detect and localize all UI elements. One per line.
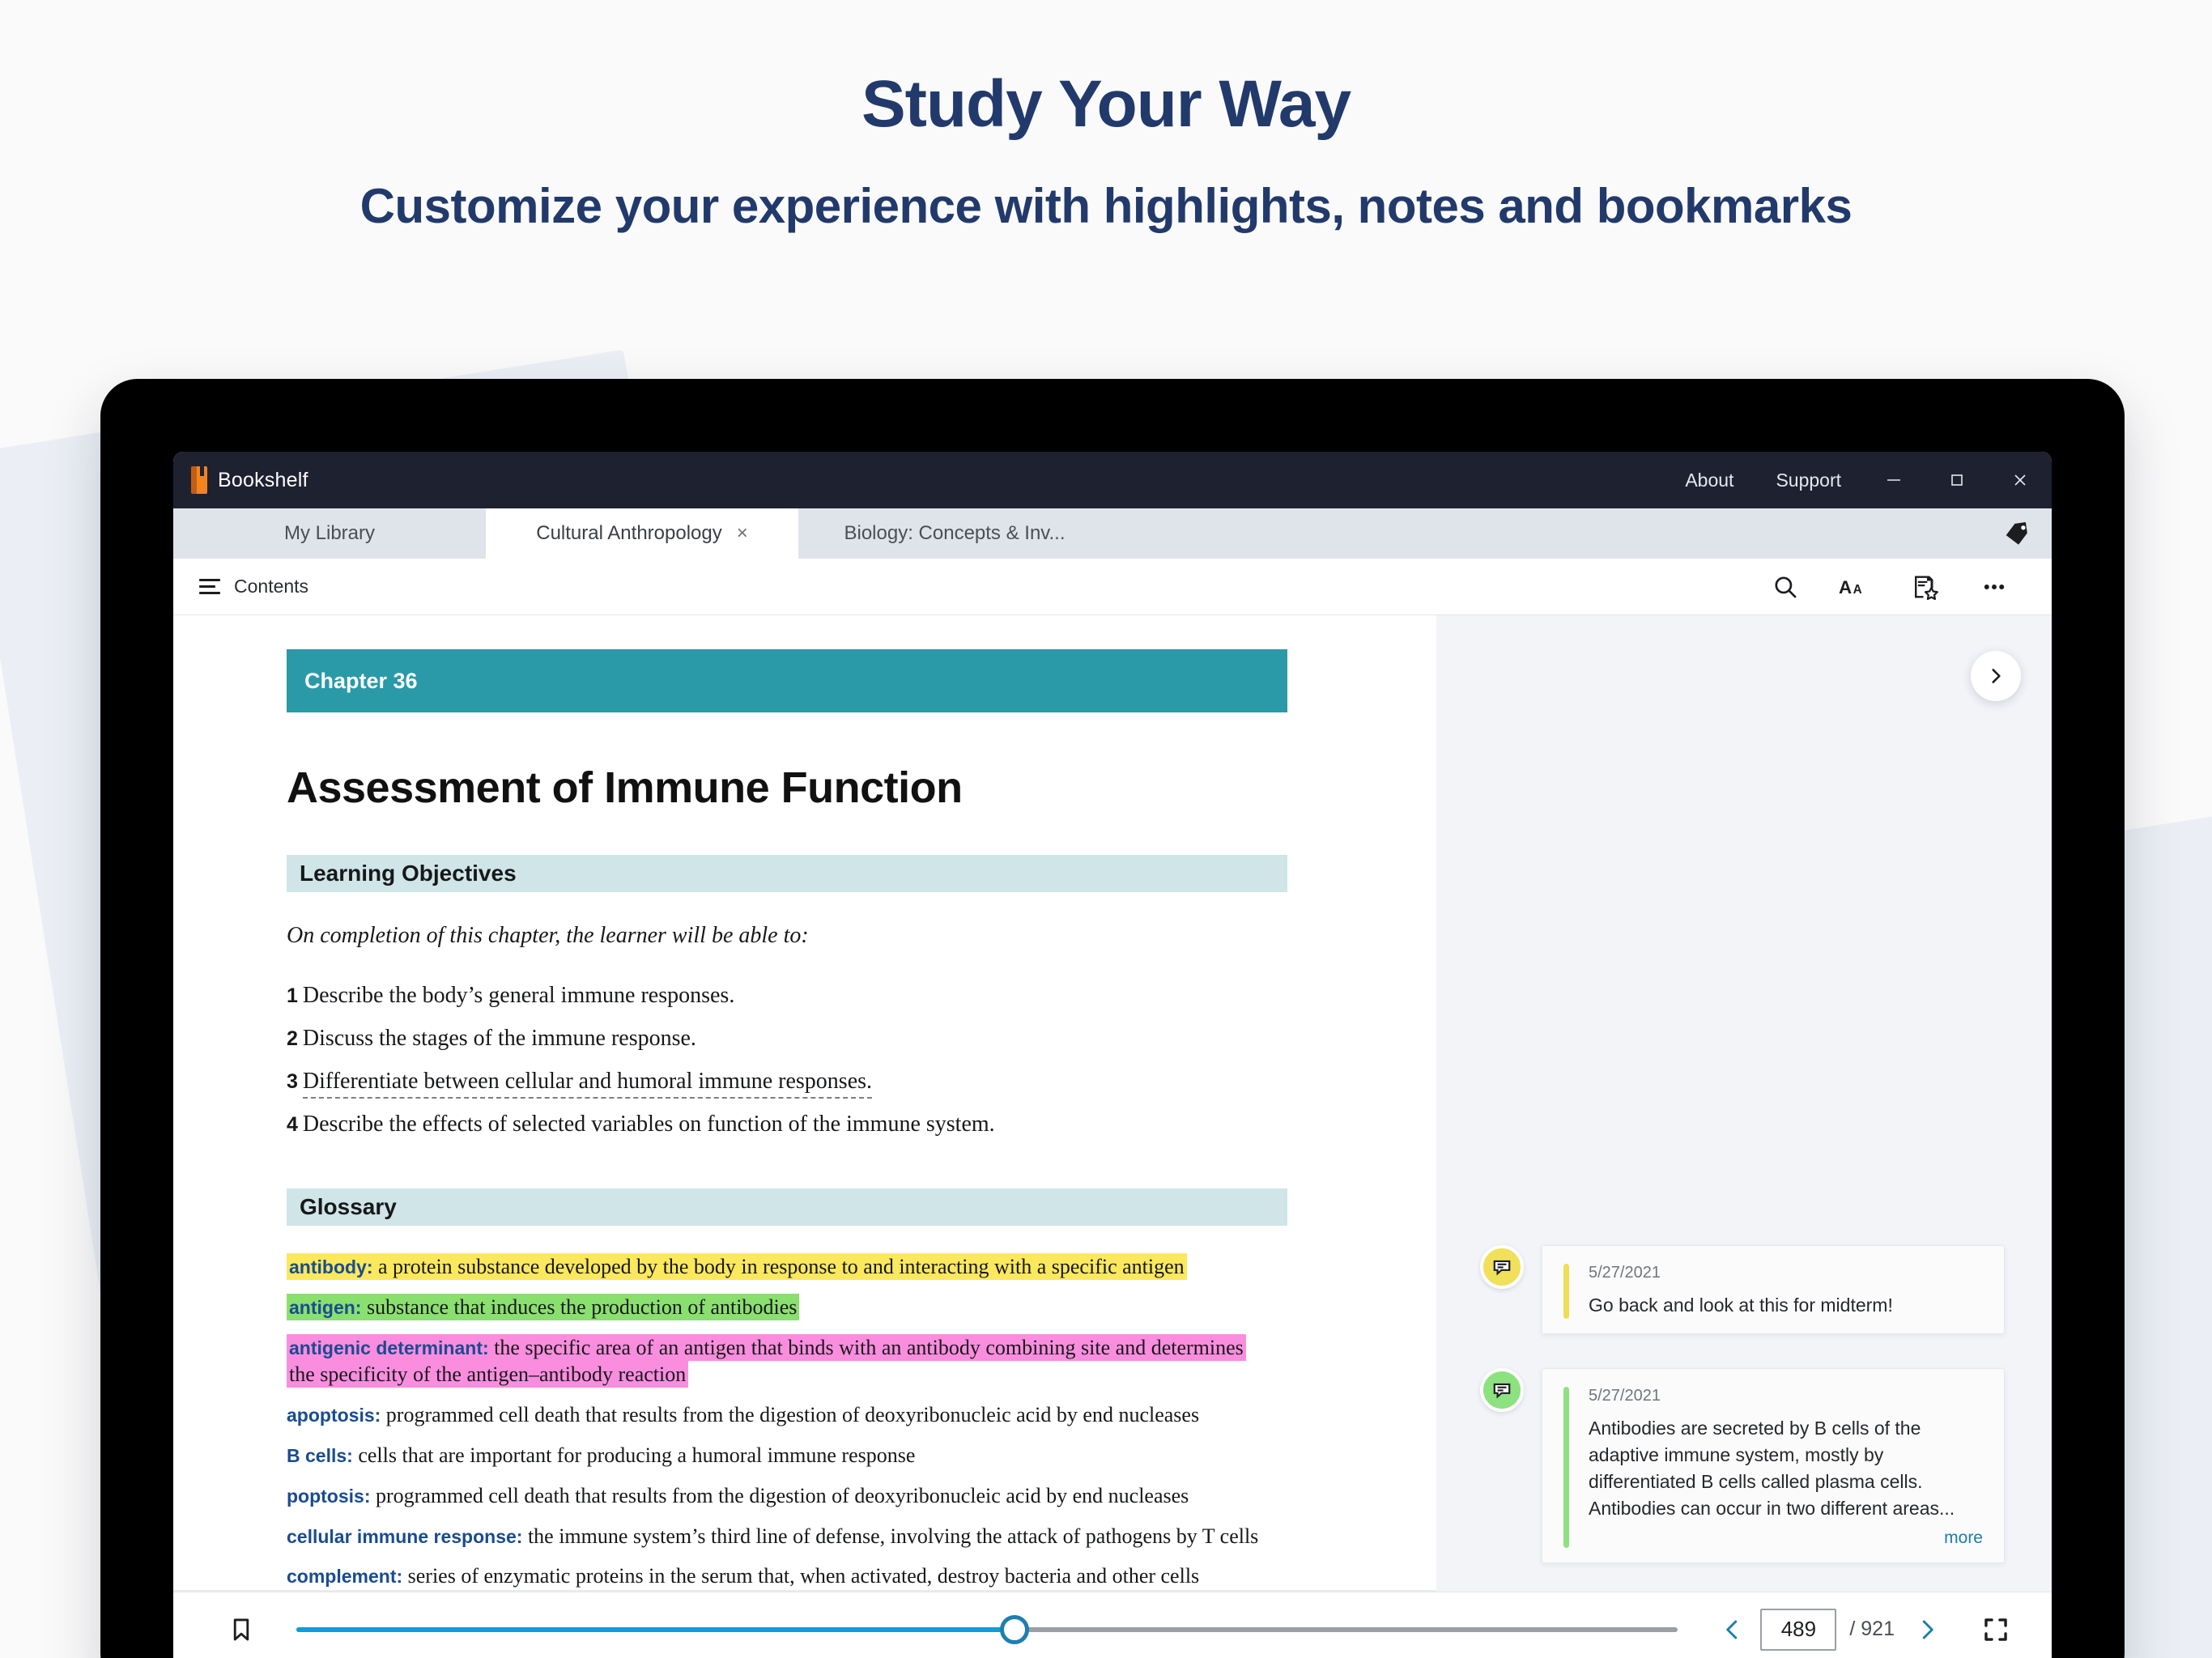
page-progress-slider[interactable] (296, 1613, 1678, 1646)
glossary-definition-line2: the specificity of the antigen–antibody … (287, 1361, 688, 1388)
glossary-definition: the specific area of an antigen that bin… (494, 1336, 1244, 1359)
glossary-term: antibody: (289, 1256, 373, 1278)
slider-thumb[interactable] (1000, 1615, 1029, 1644)
contents-label: Contents (234, 576, 308, 597)
support-link[interactable]: Support (1755, 452, 1862, 508)
glossary-entry: poptosis: programmed cell death that res… (287, 1482, 1291, 1510)
note-accent-bar (1563, 1387, 1569, 1548)
glossary-term: B cells: (287, 1445, 353, 1466)
more-options-icon[interactable] (1959, 559, 2029, 615)
reader-viewport: Chapter 36 Assessment of Immune Function… (173, 615, 2052, 1592)
fullscreen-icon[interactable] (1967, 1607, 2024, 1652)
hamburger-icon (199, 579, 220, 594)
minimize-button[interactable] (1862, 452, 1925, 508)
page-subtitle: Customize your experience with highlight… (0, 180, 2212, 233)
page-title: Study Your Way (0, 71, 2212, 138)
chapter-band: Chapter 36 (287, 649, 1287, 712)
tab-label: Cultural Anthropology (536, 522, 721, 545)
note-date: 5/27/2021 (1589, 1387, 1983, 1405)
tab-biology-concepts[interactable]: Biology: Concepts & Inv... (798, 508, 1111, 559)
previous-page-button[interactable] (1710, 1607, 1755, 1652)
page-number-input[interactable]: 489 (1760, 1609, 1836, 1651)
bookmark-icon[interactable] (215, 1616, 267, 1643)
expand-panel-button[interactable] (1971, 651, 2021, 701)
glossary-definition: the immune system’s third line of defens… (528, 1524, 1258, 1548)
book-tabbar: My Library Cultural Anthropology × Biolo… (173, 508, 2052, 559)
close-icon[interactable]: × (737, 524, 748, 543)
objective-text: Discuss the stages of the immune respons… (303, 1026, 696, 1051)
objective-item-highlighted[interactable]: 3Differentiate between cellular and humo… (287, 1067, 1355, 1095)
bookshelf-app-window: Bookshelf About Support My Library (173, 452, 2052, 1658)
glossary-definition: substance that induces the production of… (367, 1295, 797, 1319)
glossary-entry: complement: series of enzymatic proteins… (287, 1562, 1291, 1590)
chapter-label: Chapter 36 (304, 669, 418, 694)
svg-text:A: A (1839, 577, 1852, 597)
objective-number: 3 (287, 1070, 298, 1093)
glossary-term: apoptosis: (287, 1405, 381, 1426)
note-item[interactable]: 5/27/2021 Antibodies are secreted by B c… (1480, 1368, 2005, 1563)
contents-button[interactable]: Contents (199, 576, 308, 597)
objective-number: 4 (287, 1113, 298, 1136)
document-title: Assessment of Immune Function (287, 763, 1355, 813)
svg-text:A: A (1853, 583, 1862, 597)
bookshelf-logo-icon (191, 466, 207, 494)
objective-item: 1Describe the body’s general immune resp… (287, 981, 1355, 1010)
section-heading-label: Glossary (300, 1194, 397, 1220)
window-titlebar: Bookshelf About Support (173, 452, 2052, 508)
section-heading-label: Learning Objectives (300, 861, 517, 886)
glossary-entry-highlighted[interactable]: antigen: substance that induces the prod… (287, 1294, 1291, 1321)
learning-objectives-intro: On completion of this chapter, the learn… (287, 923, 1355, 949)
note-date: 5/27/2021 (1589, 1264, 1983, 1282)
app-name-label: Bookshelf (218, 469, 308, 492)
note-text: Go back and look at this for midterm! (1589, 1292, 1983, 1319)
note-card[interactable]: 5/27/2021 Antibodies are secreted by B c… (1542, 1368, 2005, 1563)
glossary-heading: Glossary (287, 1188, 1287, 1226)
glossary-entry: cellular immune response: the immune sys… (287, 1523, 1291, 1550)
tab-label: Biology: Concepts & Inv... (844, 522, 1065, 545)
glossary-term: antigen: (289, 1297, 361, 1318)
note-comment-icon[interactable] (1480, 1245, 1524, 1289)
note-card[interactable]: 5/27/2021 Go back and look at this for m… (1542, 1245, 2005, 1334)
tab-label: My Library (284, 522, 375, 545)
note-comment-icon[interactable] (1480, 1368, 1524, 1412)
glossary-definition: cells that are important for producing a… (358, 1443, 915, 1467)
glossary-term: cellular immune response: (287, 1526, 522, 1547)
glossary-definition: a protein substance developed by the bod… (378, 1255, 1185, 1278)
book-page: Chapter 36 Assessment of Immune Function… (173, 615, 1436, 1592)
note-accent-bar (1563, 1264, 1569, 1319)
note-more-link[interactable]: more (1589, 1528, 1983, 1548)
glossary-term: complement: (287, 1566, 402, 1587)
glossary-list: antibody: a protein substance developed … (287, 1253, 1355, 1590)
glossary-definition: series of enzymatic proteins in the seru… (408, 1564, 1200, 1588)
hero-header: Study Your Way Customize your experience… (0, 0, 2212, 233)
objective-text: Describe the body’s general immune respo… (303, 983, 734, 1008)
glossary-term: antigenic determinant: (289, 1337, 489, 1358)
objective-text: Differentiate between cellular and humor… (303, 1069, 872, 1099)
text-size-icon[interactable]: A A (1820, 559, 1890, 615)
glossary-entry-highlighted[interactable]: antibody: a protein substance developed … (287, 1253, 1291, 1281)
note-text: Antibodies are secreted by B cells of th… (1589, 1415, 1983, 1522)
total-pages-label: / 921 (1849, 1618, 1895, 1641)
glossary-entry-highlighted[interactable]: antigenic determinant: the specific area… (287, 1334, 1291, 1389)
close-button[interactable] (1989, 452, 2052, 508)
tabbar-spacer (1111, 508, 1982, 559)
glossary-term: poptosis: (287, 1486, 371, 1507)
notes-star-icon[interactable] (1890, 559, 1959, 615)
tag-icon[interactable] (1982, 508, 2052, 559)
glossary-entry: apoptosis: programmed cell death that re… (287, 1401, 1291, 1429)
reader-bottombar: 489 / 921 (173, 1592, 2052, 1658)
search-icon[interactable] (1750, 559, 1820, 615)
about-link[interactable]: About (1664, 452, 1755, 508)
note-item[interactable]: 5/27/2021 Go back and look at this for m… (1480, 1245, 2005, 1334)
objective-item: 2Discuss the stages of the immune respon… (287, 1024, 1355, 1052)
glossary-definition: programmed cell death that results from … (386, 1403, 1199, 1426)
objective-number: 1 (287, 984, 298, 1007)
tab-my-library[interactable]: My Library (173, 508, 486, 559)
objective-text: Describe the effects of selected variabl… (303, 1112, 995, 1137)
learning-objectives-list: 1Describe the body’s general immune resp… (287, 981, 1355, 1138)
slider-fill (296, 1627, 1015, 1632)
maximize-button[interactable] (1925, 452, 1989, 508)
objective-number: 2 (287, 1027, 298, 1050)
glossary-definition: programmed cell death that results from … (376, 1484, 1189, 1507)
annotations-pane: 5/27/2021 Go back and look at this for m… (1436, 615, 2052, 1592)
reader-toolbar: Contents A A (173, 559, 2052, 615)
device-frame: Bookshelf About Support My Library (100, 379, 2125, 1658)
tab-cultural-anthropology[interactable]: Cultural Anthropology × (486, 508, 798, 559)
screenshot-root: Study Your Way Customize your experience… (0, 0, 2212, 1658)
next-page-button[interactable] (1904, 1607, 1950, 1652)
page-number-value: 489 (1781, 1617, 1816, 1642)
learning-objectives-heading: Learning Objectives (287, 855, 1287, 892)
glossary-entry: B cells: cells that are important for pr… (287, 1442, 1291, 1469)
objective-item: 4Describe the effects of selected variab… (287, 1110, 1355, 1138)
